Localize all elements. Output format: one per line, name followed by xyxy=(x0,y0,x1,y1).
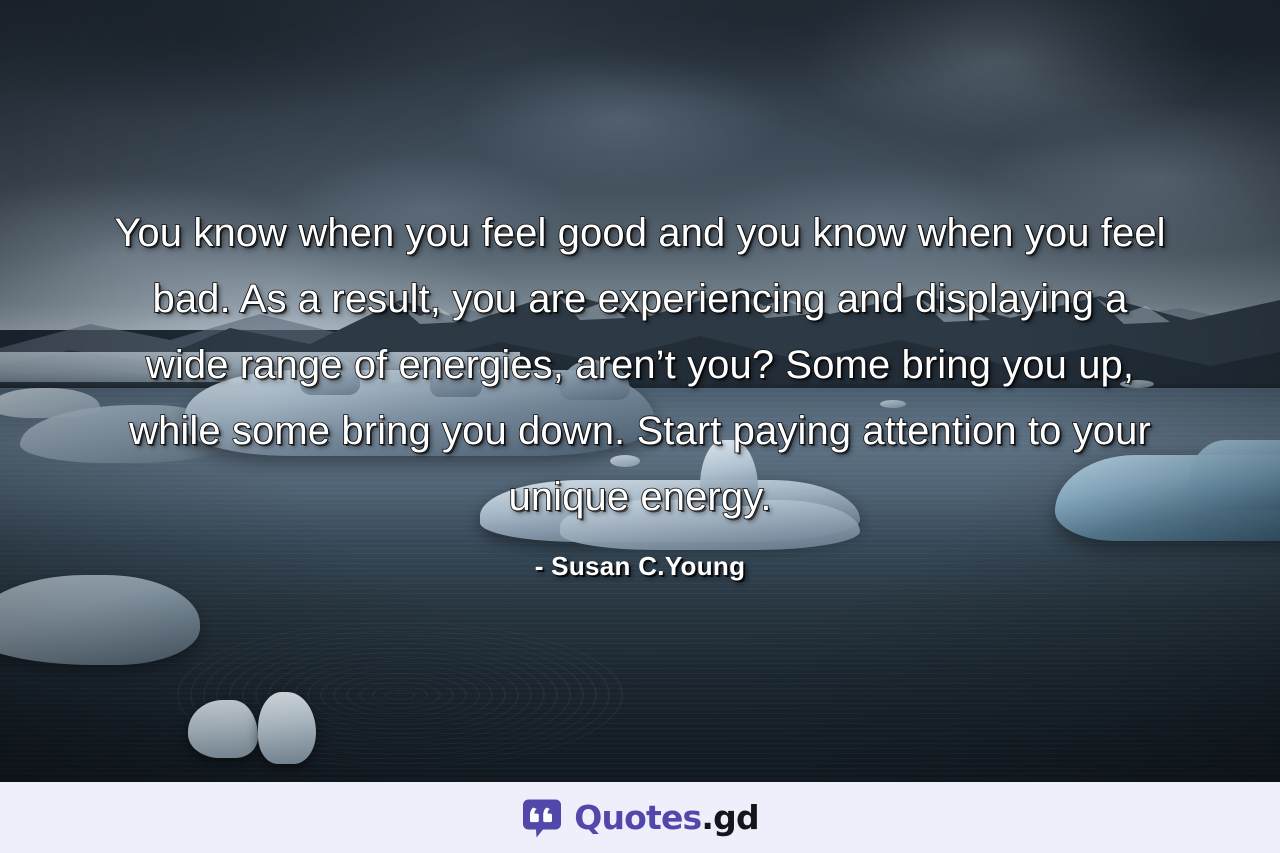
logo-name-primary: Quotes xyxy=(574,801,701,834)
logo-wordmark: Quotes .gd xyxy=(574,801,759,834)
logo-name-tld: .gd xyxy=(701,801,758,834)
quote-bubble-icon xyxy=(521,797,563,839)
site-logo[interactable]: Quotes .gd xyxy=(521,797,759,839)
quote-author: - Susan C.Young xyxy=(535,551,746,582)
footer-bar: Quotes .gd xyxy=(0,782,1280,853)
quote-text: You know when you feel good and you know… xyxy=(110,200,1170,530)
quote-image-page: You know when you feel good and you know… xyxy=(0,0,1280,853)
quote-overlay: You know when you feel good and you know… xyxy=(0,0,1280,782)
